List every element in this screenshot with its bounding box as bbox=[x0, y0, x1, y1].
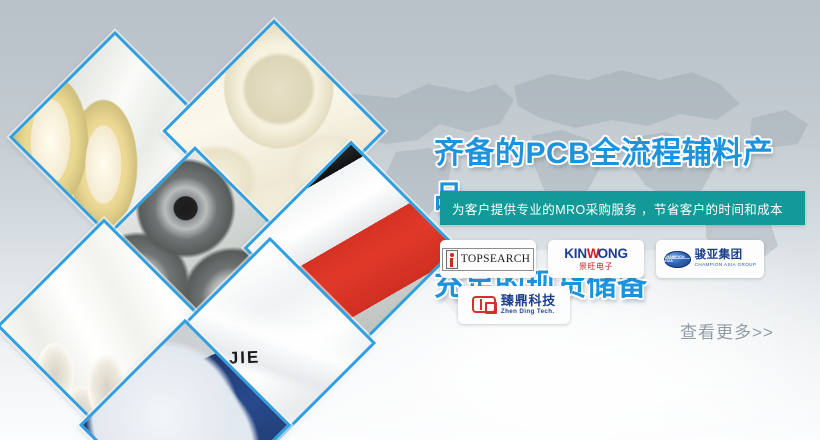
champion-asia-chinese-name: 骏亚集团 bbox=[695, 250, 757, 262]
view-more-link[interactable]: 查看更多>> bbox=[680, 318, 774, 343]
kinwong-wordmark-mid: W bbox=[587, 246, 598, 261]
banner-subtitle-text: 为客户提供专业的MRO采购服务 ，节省客户的时间和成本 bbox=[452, 199, 783, 218]
topsearch-mark-icon bbox=[446, 250, 458, 269]
film-sheet-caption: JIE bbox=[228, 347, 260, 368]
champion-asia-globe-icon: CHAMPION ASIA bbox=[664, 251, 691, 268]
banner-subtitle-bar: 为客户提供专业的MRO采购服务 ，节省客户的时间和成本 bbox=[440, 191, 805, 225]
zhen-ding-chinese-name: 臻鼎科技 bbox=[501, 294, 556, 307]
product-image-collage: JIE bbox=[0, 0, 420, 440]
champion-asia-globe-text: CHAMPION ASIA bbox=[664, 255, 691, 263]
partner-logo-zhen-ding[interactable]: 臻鼎科技 Zhen Ding Tech. bbox=[458, 286, 570, 324]
partner-logo-kinwong[interactable]: KINWONG 景旺电子 bbox=[548, 240, 644, 278]
partner-logo-row-1: TOPSEARCH KINWONG 景旺电子 CHAMPION ASIA bbox=[440, 240, 820, 278]
partner-logo-champion-asia[interactable]: CHAMPION ASIA 骏亚集团 CHAMPION ASIA GROUP bbox=[656, 240, 764, 278]
topsearch-wordmark: TOPSEARCH bbox=[461, 253, 531, 265]
kinwong-wordmark: KINWONG bbox=[564, 247, 628, 261]
partner-logo-topsearch[interactable]: TOPSEARCH bbox=[440, 240, 536, 278]
kinwong-chinese-name: 景旺电子 bbox=[564, 263, 628, 271]
promo-banner: JIE 齐备的PCB全流程辅料产品、 充足的现货储备 为客户提供专业的MRO采购… bbox=[0, 0, 820, 440]
zhen-ding-english-name: Zhen Ding Tech. bbox=[501, 309, 556, 315]
banner-text-column: 齐备的PCB全流程辅料产品、 充足的现货储备 为客户提供专业的MRO采购服务 ，… bbox=[430, 0, 820, 440]
zhen-ding-mark-icon bbox=[472, 296, 496, 313]
kinwong-wordmark-right: ONG bbox=[598, 246, 628, 261]
champion-asia-english-name: CHAMPION ASIA GROUP bbox=[695, 263, 757, 268]
kinwong-wordmark-left: KIN bbox=[564, 246, 587, 261]
